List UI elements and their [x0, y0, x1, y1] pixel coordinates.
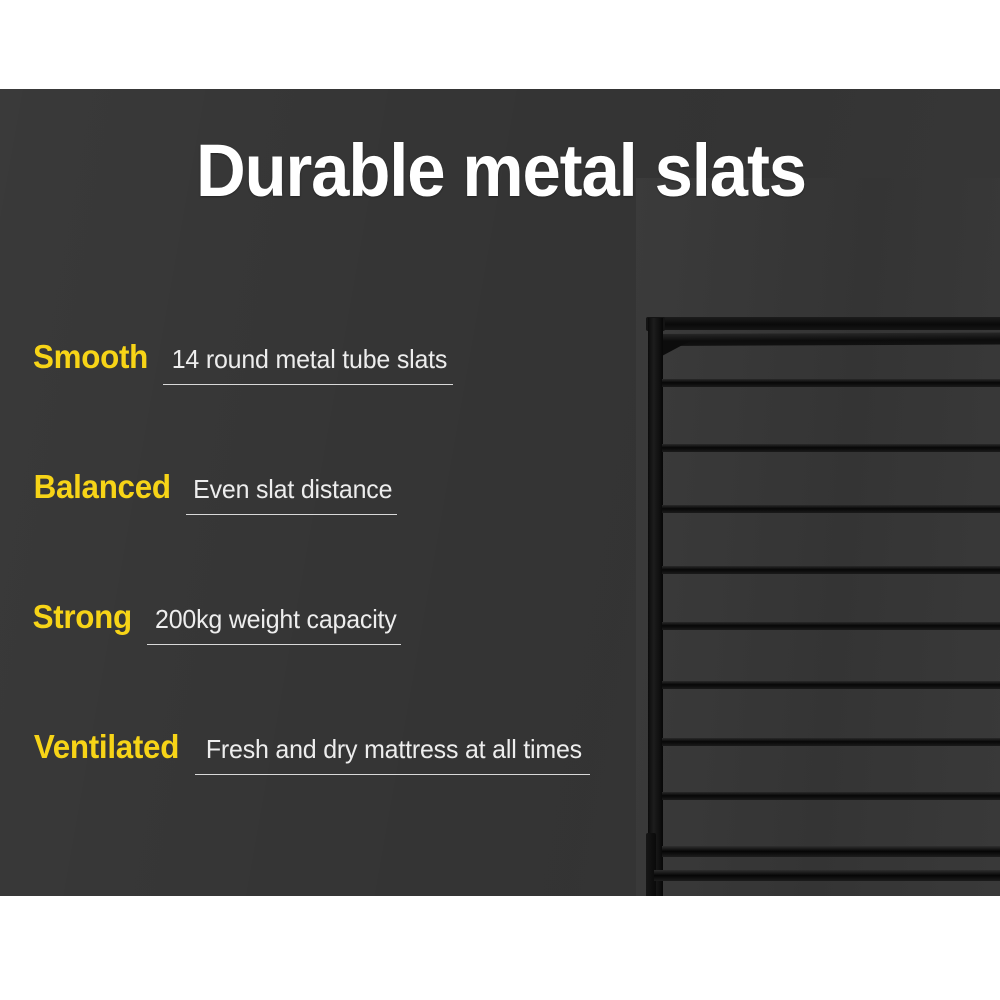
feature-description-underline: 200kg weight capacity — [147, 604, 402, 645]
feature-term: Strong — [33, 598, 132, 636]
bed-frame-slat — [662, 505, 1000, 513]
bed-frame-slat — [662, 566, 1000, 574]
bed-frame-upper-rail — [658, 333, 1000, 346]
feature-list: Smooth 14 round metal tube slats Balance… — [30, 338, 630, 858]
feature-item-balanced: Balanced Even slat distance — [30, 468, 630, 598]
feature-item-smooth: Smooth 14 round metal tube slats — [30, 338, 630, 468]
feature-description: 200kg weight capacity — [155, 604, 397, 635]
bed-frame-side-post — [648, 318, 663, 896]
feature-description-underline: Even slat distance — [186, 474, 396, 515]
bed-frame-lower-rail — [654, 870, 1000, 881]
bed-frame-slat — [662, 444, 1000, 452]
bed-frame-slat — [662, 738, 1000, 746]
bed-frame-backdrop — [636, 178, 1000, 896]
bed-frame-slat — [662, 622, 1000, 630]
feature-term: Balanced — [34, 468, 171, 506]
feature-description: 14 round metal tube slats — [172, 344, 447, 375]
feature-description: Even slat distance — [193, 474, 392, 505]
product-image-bed-frame — [636, 178, 1000, 896]
feature-item-ventilated: Ventilated Fresh and dry mattress at all… — [30, 728, 630, 858]
bed-frame-slat — [662, 379, 1000, 387]
page-title: Durable metal slats — [196, 128, 806, 214]
feature-description-underline: 14 round metal tube slats — [163, 344, 453, 385]
bed-frame-slat — [662, 846, 1000, 857]
bed-frame-slat — [662, 792, 1000, 800]
feature-item-strong: Strong 200kg weight capacity — [30, 598, 630, 728]
feature-term: Smooth — [33, 338, 148, 376]
feature-description-underline: Fresh and dry mattress at all times — [195, 734, 590, 775]
bed-frame-slat — [662, 681, 1000, 689]
feature-banner: Durable metal slats Smooth 14 round meta… — [0, 0, 1000, 1000]
feature-term: Ventilated — [34, 728, 179, 766]
bed-frame-post-bracket — [646, 833, 656, 896]
bed-frame-top-rail — [650, 317, 1000, 330]
feature-description: Fresh and dry mattress at all times — [206, 734, 582, 765]
